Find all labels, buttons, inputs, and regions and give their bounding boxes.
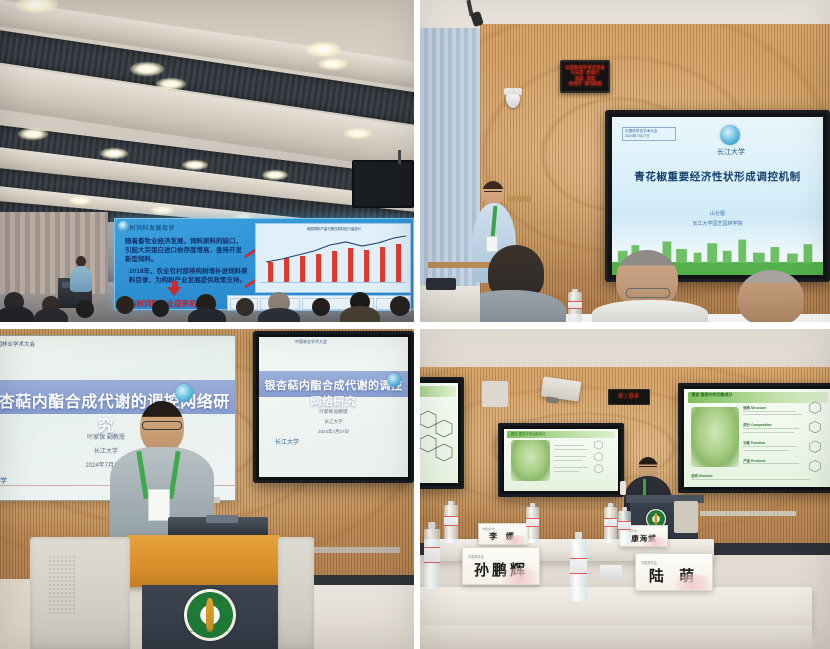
speaker-glasses-icon: [484, 191, 502, 195]
water-bottle: [568, 292, 582, 322]
bottle-cap: [575, 532, 583, 539]
bottle-cap: [448, 501, 454, 505]
university-logo-text: 长江大学: [700, 147, 762, 157]
bottle-label: [424, 547, 440, 563]
center-slide: 银杏 银杏叶的功能成分: [504, 429, 618, 491]
name-placard: 中国林学会 陆 萌: [635, 553, 713, 591]
photo-top-right: 欢迎参加学术交流会 今天是 星期六 温度 湿度 会场内 请勿吸烟 中国林学会学术…: [420, 0, 830, 322]
ceiling-light: [100, 148, 128, 159]
auditorium-projection-screen: 构树饲料发展现状 随着畜牧业经济发展，饲料原料的缺口，引起大宗蛋白进口依存度增高…: [114, 218, 414, 310]
university-logo-text: 长江大学: [275, 437, 299, 446]
ceiling-light: [318, 58, 348, 70]
bottle-label: [618, 521, 631, 530]
countdown-timer-display: 0:04: [608, 389, 650, 405]
slide-title: 银杏萜内酯合成代谢的调控网络研究: [259, 377, 408, 409]
podium-desktop: [126, 535, 280, 587]
monitor-mount-arm: [398, 150, 401, 164]
slide-illustration: [691, 407, 738, 468]
slide-header: 构树饲料发展现状: [123, 223, 175, 232]
left-slide: [420, 383, 458, 483]
wooden-chair-back: [508, 196, 532, 202]
right-display-panel: 银杏 银杏叶的功能成分 结构 Structure 成分 Composition …: [678, 383, 830, 493]
presenter-microphone: [620, 481, 626, 495]
ceiling-light: [130, 62, 164, 76]
slide-title: 银杏萜内酯合成代谢的调控网络研究: [0, 388, 235, 436]
slide-title: 青花椒重要经济性状形成调控机制: [612, 169, 823, 184]
microphone-base: [426, 278, 456, 290]
ceiling-light: [156, 78, 186, 90]
ceiling-light: [305, 42, 341, 57]
seal-text-cn: 西北农林科技大学: [184, 594, 236, 598]
university-logo-icon: [175, 384, 193, 402]
ceiling-light: [262, 170, 288, 180]
university-logo-icon: [720, 125, 740, 145]
speaker-cabinet-right: [278, 537, 314, 649]
upper-wall: [420, 329, 830, 371]
placard-name: 康海斌: [631, 533, 657, 544]
audience-member-head: [738, 270, 804, 322]
meeting-table-edge: [420, 286, 480, 322]
seal-text-latin: NORTHWEST A&F UNIVERSITY: [184, 630, 236, 633]
chart-caption: 我国饲料产量与蛋白原料进口量统计: [262, 226, 406, 231]
presenter-name-badge: [148, 489, 170, 521]
audience-member: [236, 298, 254, 316]
slide-illustration: [511, 440, 550, 481]
left-display-panel: [420, 377, 464, 489]
presenter-glasses-icon: [639, 466, 657, 470]
slide-affiliation: 长江大学: [0, 446, 235, 455]
audience-member: [152, 300, 169, 317]
university-logo-icon: [387, 373, 401, 387]
audience-member: [116, 296, 134, 314]
ceiling-light: [18, 128, 48, 140]
audience-member: [188, 308, 226, 322]
audience-member: [312, 298, 330, 316]
audience-member: [258, 308, 300, 322]
speaker-name-badge: [486, 236, 498, 252]
slide-affiliation: 长江大学: [259, 419, 408, 425]
slide-embedded-chart: 我国饲料产量与蛋白原料进口量统计: [255, 223, 411, 293]
bottle-cap: [622, 507, 628, 511]
bottle-label: [568, 301, 582, 309]
center-display-panel: 银杏 银杏叶的功能成分: [498, 423, 624, 497]
slide-conference-stamp: 中国林学会学术大会 2024年7月27日: [622, 127, 676, 141]
ceiling-light: [68, 196, 92, 205]
right-display-panel: 中国林业学术大会 银杏萜内酯合成代谢的调控网络研究 叶家保 副教授 长江大学 2…: [253, 331, 414, 483]
ceiling-light: [182, 160, 208, 170]
audience-member: [390, 296, 410, 316]
name-placard: 中国林学会 孙鹏辉: [462, 547, 540, 585]
photo-top-left: 构树饲料发展现状 随着畜牧业经济发展，饲料原料的缺口，引起大宗蛋白进口依存度增高…: [0, 0, 414, 322]
bottle-cap: [572, 289, 578, 292]
slide-header-text: 银杏 银杏叶的功能成分: [511, 431, 546, 436]
ceiling-light: [150, 206, 174, 215]
photo-collage: 构树饲料发展现状 随着畜牧业经济发展，饲料原料的缺口，引起大宗蛋白进口依存度增高…: [0, 0, 830, 649]
countdown-value: 0:04: [619, 393, 640, 401]
slide-presenter: 叶家保 副教授: [0, 432, 235, 441]
slide-conference-banner: 中国林业学术大会: [295, 339, 327, 345]
slide-conference-banner: 中国林业学术大会: [0, 340, 35, 348]
speaker-cabinet-left: [30, 537, 130, 649]
water-bottle: [424, 529, 440, 589]
wall-rail: [700, 511, 796, 516]
water-bottle: [570, 539, 587, 601]
slide-presenter: 山仑娅: [612, 210, 823, 217]
speaker-grille: [48, 555, 76, 615]
bottle-label: [526, 518, 539, 527]
slide-header-badge: [118, 221, 129, 232]
slide-section-label: 功能 Function: [743, 440, 765, 445]
slide-section-label: 结构 Structure: [691, 473, 712, 478]
water-bottle: [444, 505, 458, 543]
slide-header-band: [420, 386, 456, 397]
slide-section-label: 成分 Composition: [743, 422, 771, 427]
slide-section-label: 结构 Structure: [743, 405, 766, 410]
bottle-label: [444, 516, 458, 526]
name-placard: 中国林学会 李 娜: [478, 523, 528, 545]
bottle-cap: [428, 522, 435, 529]
photo-bottom-right: 0:04 银杏 银杏叶的功能成分: [420, 329, 830, 649]
led-line: 会场内 请勿吸烟: [568, 82, 601, 87]
slide-header-text: 银杏 银杏叶的功能成分: [691, 392, 732, 398]
slide-date: 2024年7月27日: [259, 429, 408, 435]
table-front-apron: [420, 625, 812, 649]
audience-member: [340, 306, 380, 322]
right-slide: 银杏 银杏叶的功能成分 结构 Structure 成分 Composition …: [684, 389, 830, 487]
ceiling-light: [344, 128, 372, 139]
placard-name: 孙鹏辉: [474, 559, 528, 580]
wall-rail: [300, 547, 400, 553]
hall-side-monitor: [352, 160, 414, 208]
audience-glasses-icon: [626, 288, 670, 298]
bottle-label: [604, 518, 617, 527]
presenter-glasses-icon: [142, 421, 182, 430]
water-bottle: [604, 507, 617, 543]
water-bottle: [526, 507, 539, 543]
photo-bottom-left: 中国林业学术大会 银杏萜内酯合成代谢的调控网络研究 叶家保 副教授 长江大学 2…: [0, 329, 414, 649]
placard-name: 李 娜: [489, 531, 517, 542]
tissue-box: [600, 565, 622, 579]
auditorium-speaker-body: [70, 266, 92, 292]
bottle-cap: [608, 503, 614, 507]
audience-member: [76, 300, 94, 318]
led-information-board: 欢迎参加学术交流会 今天是 星期六 温度 湿度 会场内 请勿吸烟: [560, 60, 610, 93]
slide-paragraph-2: 2018年，农业农村部将构树增补进饲料原料目录，为构树产业发展提供政策支持。: [129, 267, 249, 285]
slide-down-arrow-stem: [172, 281, 178, 289]
podium-monitor-stand: [206, 515, 238, 523]
wall-control-panel: [674, 501, 698, 533]
placard-name: 陆 萌: [649, 565, 699, 586]
audience-member: [34, 308, 68, 322]
bottle-cap: [530, 503, 536, 507]
slide-paragraph-1: 随着畜牧业经济发展，饲料原料的缺口，引起大宗蛋白进口依存度增高，亟待开发新型饲料…: [125, 237, 245, 264]
slide-affiliation: 长江大学园艺园林学院: [612, 220, 823, 227]
slide-section-label: 产品 Products: [743, 458, 765, 463]
water-bottle: [618, 511, 631, 545]
bottle-label: [570, 558, 587, 574]
audience-member-body: [592, 300, 708, 322]
slide-presenter: 叶家保 副教授: [259, 409, 408, 415]
projector-mount-plate: [482, 381, 508, 407]
